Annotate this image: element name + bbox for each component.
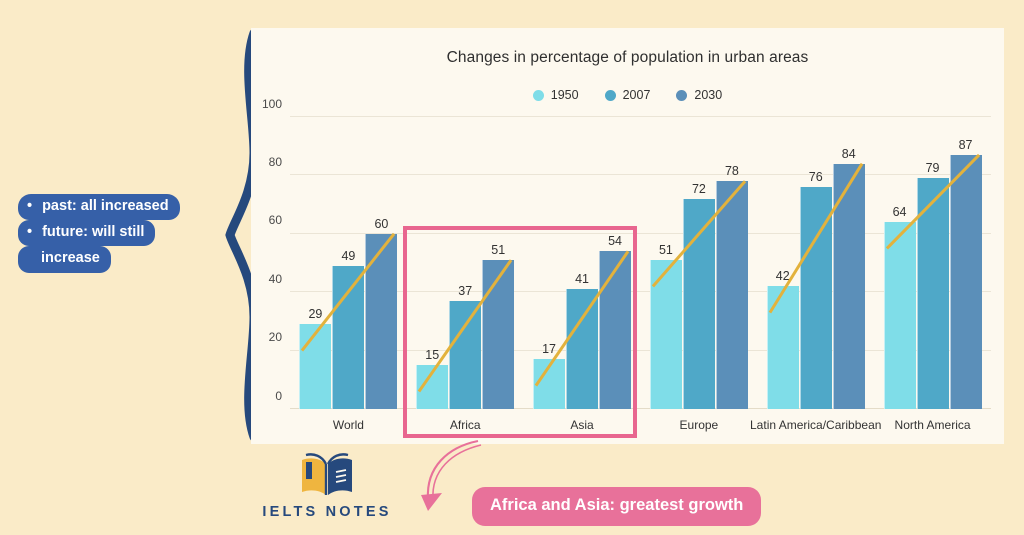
category-label: World [333, 418, 364, 432]
bar-group: 294960World [290, 117, 407, 409]
bar-slot: 51 [482, 117, 514, 409]
legend-color-dot [605, 90, 616, 101]
bar-1950[interactable] [767, 286, 799, 409]
bar-value-label: 29 [308, 307, 322, 321]
category-label: Latin America/Caribbean [750, 418, 881, 432]
bar-value-label: 17 [542, 342, 556, 356]
bar-2007[interactable] [800, 187, 832, 409]
callout-text: future: will still [39, 220, 155, 246]
y-axis-tick-label: 40 [269, 272, 282, 286]
callout-line: • future: will still [18, 220, 208, 246]
open-book-icon [296, 452, 358, 500]
bar-slot: 51 [650, 117, 682, 409]
bar-slot: 42 [767, 117, 799, 409]
bar-1950[interactable] [416, 365, 448, 409]
callout-bullet: • [18, 194, 39, 220]
chart-legend: 1950 2007 2030 [251, 88, 1004, 102]
bars-wrapper: 294960 [299, 117, 397, 409]
bar-value-label: 84 [842, 147, 856, 161]
bar-value-label: 64 [893, 205, 907, 219]
bar-value-label: 60 [374, 217, 388, 231]
y-axis-tick-label: 60 [269, 213, 282, 227]
bar-slot: 29 [299, 117, 331, 409]
bar-slot: 84 [833, 117, 865, 409]
bar-slot: 49 [332, 117, 364, 409]
bar-group: 153751Africa [407, 117, 524, 409]
bar-value-label: 37 [458, 284, 472, 298]
legend-item-1950[interactable]: 1950 [533, 88, 579, 102]
bar-value-label: 78 [725, 164, 739, 178]
legend-label: 1950 [551, 88, 579, 102]
bar-2030[interactable] [716, 181, 748, 409]
bar-2030[interactable] [833, 164, 865, 409]
bar-group: 174154Asia [524, 117, 641, 409]
bars-wrapper: 517278 [650, 117, 748, 409]
bar-slot: 15 [416, 117, 448, 409]
bar-value-label: 76 [809, 170, 823, 184]
callout-bullet: • [18, 220, 39, 246]
bar-group: 427684Latin America/Caribbean [757, 117, 874, 409]
y-axis-tick-label: 20 [269, 330, 282, 344]
bar-value-label: 51 [659, 243, 673, 257]
bar-groups: 294960World153751Africa174154Asia517278E… [290, 117, 991, 409]
callout-text: past: all increased [39, 194, 180, 220]
category-label: Europe [680, 418, 719, 432]
bar-slot: 76 [800, 117, 832, 409]
chart-panel: Changes in percentage of population in u… [251, 28, 1004, 444]
plot-area: 020406080100 294960World153751Africa1741… [290, 117, 991, 409]
callout-line: increase [18, 246, 208, 272]
legend-item-2030[interactable]: 2030 [676, 88, 722, 102]
bar-2007[interactable] [917, 178, 949, 409]
ielts-notes-logo: IELTS NOTES [252, 452, 402, 520]
bar-value-label: 15 [425, 348, 439, 362]
bars-wrapper: 647987 [884, 117, 982, 409]
bars-wrapper: 427684 [767, 117, 865, 409]
bar-slot: 17 [533, 117, 565, 409]
bar-value-label: 51 [491, 243, 505, 257]
bar-2007[interactable] [332, 266, 364, 409]
bar-1950[interactable] [650, 260, 682, 409]
bar-value-label: 49 [341, 249, 355, 263]
bar-2007[interactable] [683, 199, 715, 409]
bar-value-label: 72 [692, 182, 706, 196]
bar-2030[interactable] [950, 155, 982, 409]
y-axis-tick-label: 80 [269, 155, 282, 169]
bar-slot: 78 [716, 117, 748, 409]
bar-value-label: 54 [608, 234, 622, 248]
category-label: Africa [450, 418, 481, 432]
bar-slot: 60 [365, 117, 397, 409]
bar-value-label: 87 [959, 138, 973, 152]
callout-text: increase [18, 246, 111, 272]
bar-1950[interactable] [884, 222, 916, 409]
bar-slot: 37 [449, 117, 481, 409]
legend-label: 2007 [623, 88, 651, 102]
category-label: Asia [570, 418, 593, 432]
bar-2030[interactable] [482, 260, 514, 409]
bar-slot: 41 [566, 117, 598, 409]
legend-color-dot [676, 90, 687, 101]
bar-2007[interactable] [566, 289, 598, 409]
legend-color-dot [533, 90, 544, 101]
bar-slot: 72 [683, 117, 715, 409]
bar-1950[interactable] [533, 359, 565, 409]
pink-callout-label: Africa and Asia: greatest growth [472, 487, 761, 526]
y-axis-tick-label: 0 [275, 389, 282, 403]
bar-group: 647987North America [874, 117, 991, 409]
bar-slot: 79 [917, 117, 949, 409]
logo-text: IELTS NOTES [252, 504, 402, 520]
bar-value-label: 79 [926, 161, 940, 175]
legend-item-2007[interactable]: 2007 [605, 88, 651, 102]
bar-2030[interactable] [365, 234, 397, 409]
callout-line: • past: all increased [18, 194, 208, 220]
bar-slot: 64 [884, 117, 916, 409]
bar-slot: 87 [950, 117, 982, 409]
chart-title: Changes in percentage of population in u… [251, 49, 1004, 67]
bar-2007[interactable] [449, 301, 481, 409]
bars-wrapper: 174154 [533, 117, 631, 409]
bar-value-label: 42 [776, 269, 790, 283]
bar-2030[interactable] [599, 251, 631, 409]
bar-1950[interactable] [299, 324, 331, 409]
bar-value-label: 41 [575, 272, 589, 286]
y-axis-tick-label: 100 [262, 97, 282, 111]
legend-label: 2030 [694, 88, 722, 102]
left-callout-box: • past: all increased • future: will sti… [18, 194, 208, 273]
bars-wrapper: 153751 [416, 117, 514, 409]
category-label: North America [895, 418, 971, 432]
bar-slot: 54 [599, 117, 631, 409]
bar-group: 517278Europe [640, 117, 757, 409]
